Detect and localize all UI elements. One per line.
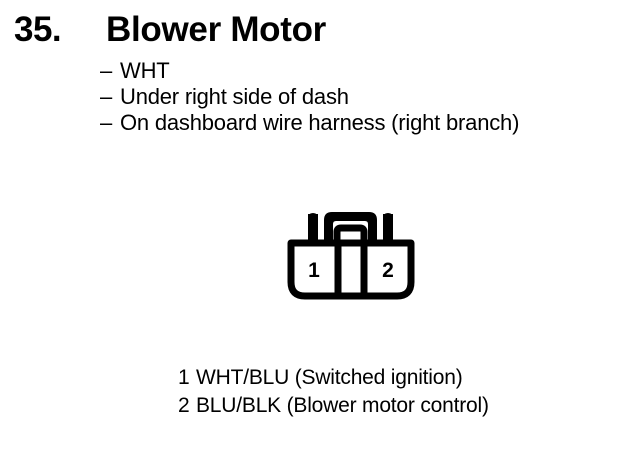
- list-item-label: Under right side of dash: [120, 84, 349, 110]
- bullet-dash-icon: –: [100, 58, 120, 84]
- connector-illustration: 1 2: [280, 200, 425, 310]
- connector-cavity-label-1: 1: [308, 259, 320, 282]
- list-item: –WHT: [100, 58, 630, 84]
- connector-number: 35.: [14, 8, 61, 52]
- connector-cavity-label-2: 2: [382, 259, 394, 282]
- legend-pin-number: 1: [178, 364, 196, 392]
- list-item: –On dashboard wire harness (right branch…: [100, 110, 630, 136]
- page-header: 35. Blower Motor: [0, 8, 640, 56]
- list-item-label: On dashboard wire harness (right branch): [120, 110, 519, 136]
- connector-left-post-cap-icon: [308, 213, 318, 218]
- bullet-dash-icon: –: [100, 110, 120, 136]
- legend-pin-description: WHT/BLU (Switched ignition): [196, 364, 463, 392]
- connector-right-post-cap-icon: [383, 213, 393, 218]
- diagram-page: 35. Blower Motor –WHT –Under right side …: [0, 0, 640, 460]
- bullet-dash-icon: –: [100, 84, 120, 110]
- page-title: Blower Motor: [106, 8, 326, 52]
- legend-pin-description: BLU/BLK (Blower motor control): [196, 392, 489, 420]
- pin-legend: 1WHT/BLU (Switched ignition) 2BLU/BLK (B…: [178, 364, 598, 420]
- legend-pin-number: 2: [178, 392, 196, 420]
- connector-svg: 1 2: [280, 200, 425, 310]
- list-item-label: WHT: [120, 58, 170, 84]
- detail-list: –WHT –Under right side of dash –On dashb…: [100, 58, 630, 136]
- list-item: –Under right side of dash: [100, 84, 630, 110]
- legend-row: 2BLU/BLK (Blower motor control): [178, 392, 598, 420]
- legend-row: 1WHT/BLU (Switched ignition): [178, 364, 598, 392]
